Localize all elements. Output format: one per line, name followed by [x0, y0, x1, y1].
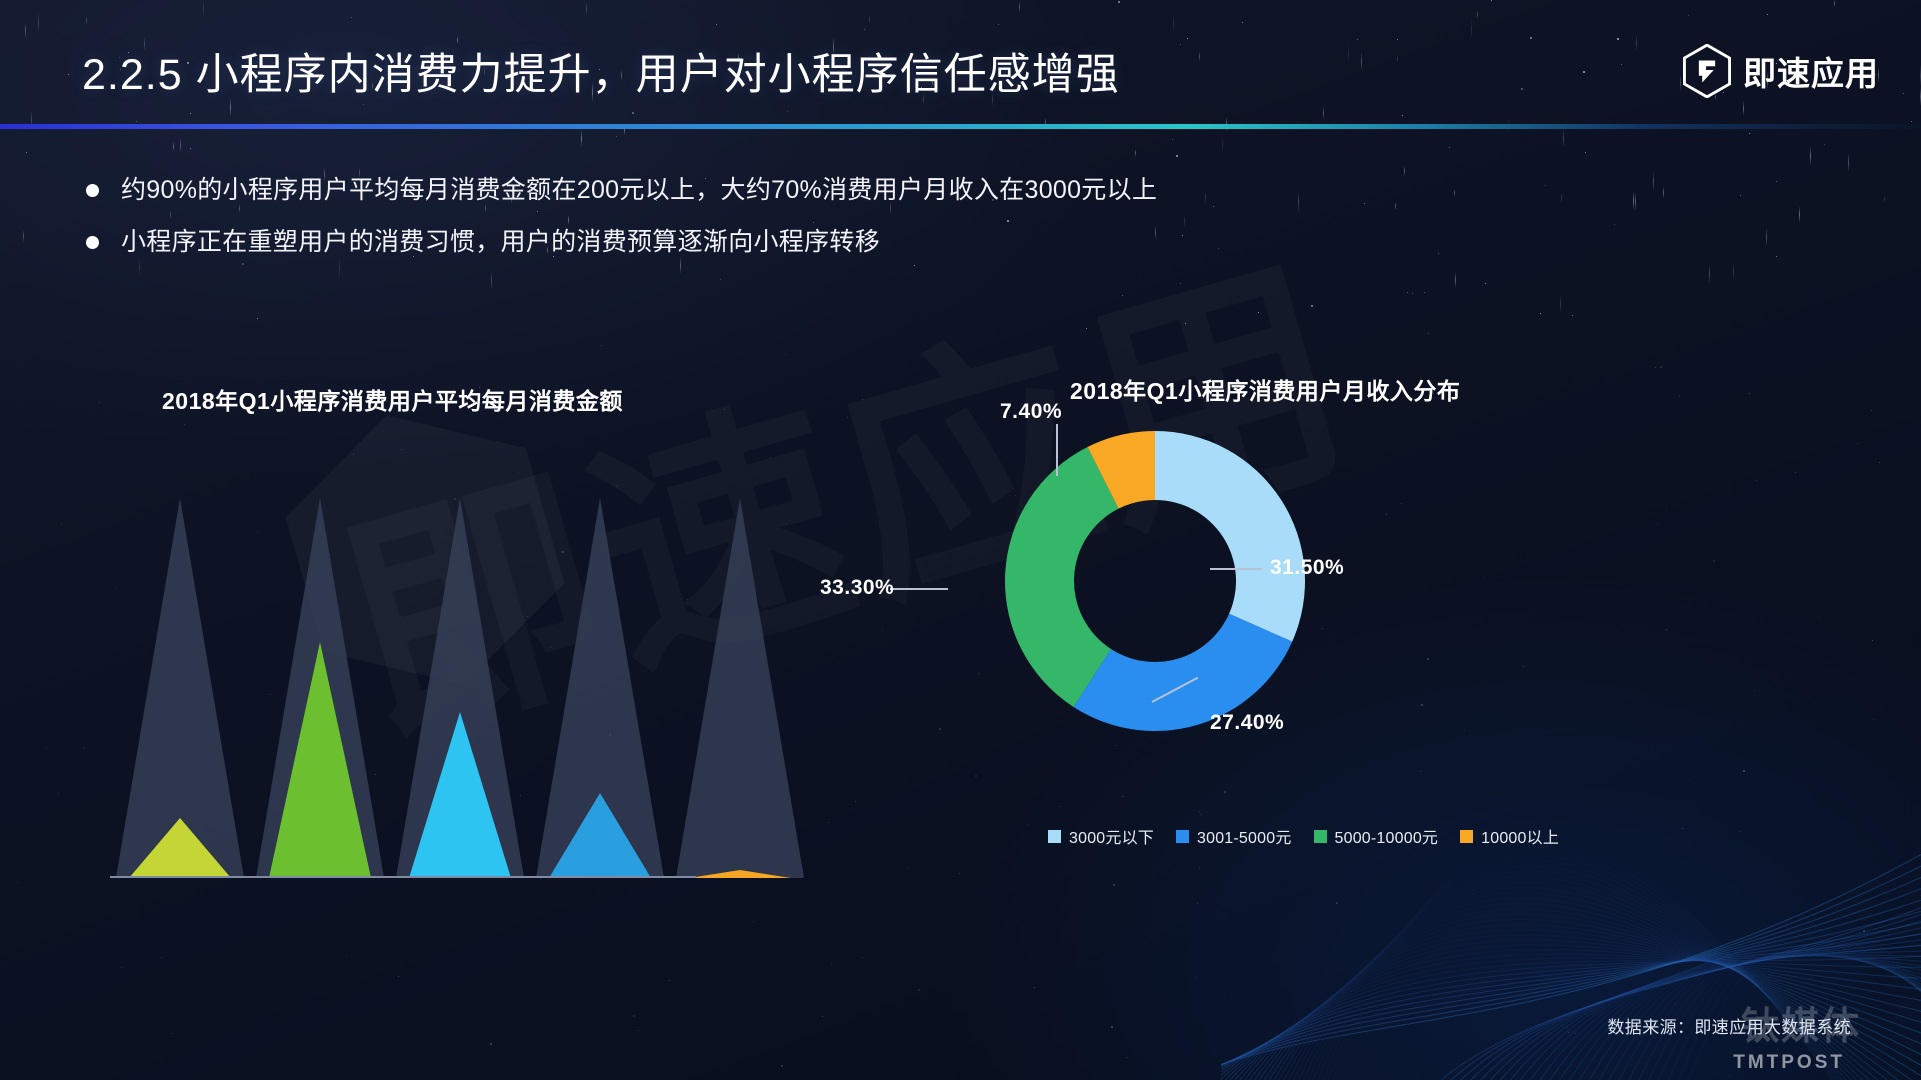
list-item: 约90%的小程序用户平均每月消费金额在200元以上，大约70%消费用户月收入在3… — [86, 172, 1586, 208]
bullet-dot-icon — [86, 236, 99, 249]
bar-chart-title: 2018年Q1小程序消费用户平均每月消费金额 — [110, 382, 830, 416]
donut-chart-legend: 3000元以下3001-5000元5000-10000元10000以上 — [1048, 824, 1559, 848]
bar-value-triangle — [269, 642, 371, 878]
legend-item[interactable]: 3000元以下 — [1048, 824, 1154, 848]
header-divider — [0, 124, 1921, 129]
bar-chart-plot — [110, 458, 810, 878]
hexagon-e-logo-icon — [1683, 44, 1731, 98]
legend-swatch-icon — [1176, 830, 1189, 843]
bar-group — [530, 458, 670, 878]
slide-root: 即速应用 2.2.5 小程序内消费力提升，用户对小程序信任感增强 即速应用 约9… — [0, 0, 1921, 1080]
legend-label: 10000以上 — [1481, 824, 1559, 848]
list-item: 小程序正在重塑用户的消费习惯，用户的消费预算逐渐向小程序转移 — [86, 224, 1586, 260]
donut-value-label: 31.50% — [1270, 556, 1344, 580]
bar-chart-panel: 2018年Q1小程序消费用户平均每月消费金额 10.9%200元以下43.1%2… — [110, 382, 830, 878]
brand-name-label: 即速应用 — [1743, 47, 1879, 95]
bar-value-triangle — [689, 870, 791, 878]
brand-logo: 即速应用 — [1683, 44, 1879, 98]
donut-chart-plot: 31.50%27.40%33.30%7.40% — [880, 416, 1640, 816]
legend-swatch-icon — [1460, 830, 1473, 843]
legend-item[interactable]: 10000以上 — [1460, 824, 1559, 848]
legend-item[interactable]: 5000-10000元 — [1314, 824, 1439, 848]
bullet-text: 约90%的小程序用户平均每月消费金额在200元以上，大约70%消费用户月收入在3… — [121, 172, 1157, 208]
legend-item[interactable]: 3001-5000元 — [1176, 824, 1292, 848]
tmt-logo-text: TMTPOST — [1733, 1052, 1845, 1074]
bar-value-triangle — [549, 793, 651, 878]
legend-label: 3000元以下 — [1069, 824, 1154, 848]
legend-swatch-icon — [1048, 830, 1061, 843]
donut-leader-line — [890, 588, 948, 590]
bar-value-triangle — [409, 712, 511, 878]
donut-leader-line — [1210, 568, 1262, 570]
bar-value-triangle — [129, 818, 231, 878]
source-note: 数据来源：即速应用大数据系统 — [1607, 1013, 1851, 1038]
donut-slice[interactable] — [1155, 431, 1305, 642]
bullet-dot-icon — [86, 184, 99, 197]
bar-group — [670, 458, 810, 878]
donut-value-label: 33.30% — [820, 576, 894, 600]
legend-label: 5000-10000元 — [1335, 824, 1439, 848]
bullet-list: 约90%的小程序用户平均每月消费金额在200元以上，大约70%消费用户月收入在3… — [86, 172, 1586, 277]
donut-svg — [990, 416, 1320, 746]
bar-track-triangle — [676, 498, 804, 878]
bar-group — [250, 458, 390, 878]
bar-group — [390, 458, 530, 878]
legend-swatch-icon — [1314, 830, 1327, 843]
bar-group — [110, 458, 250, 878]
donut-chart-panel: 2018年Q1小程序消费用户月收入分布 31.50%27.40%33.30%7.… — [880, 372, 1680, 816]
donut-leader-line — [1056, 424, 1058, 476]
bullet-text: 小程序正在重塑用户的消费习惯，用户的消费预算逐渐向小程序转移 — [121, 224, 880, 260]
donut-value-label: 7.40% — [1000, 400, 1062, 424]
legend-label: 3001-5000元 — [1197, 824, 1292, 848]
page-title: 2.2.5 小程序内消费力提升，用户对小程序信任感增强 — [82, 40, 1120, 102]
x-axis-line — [110, 876, 696, 878]
donut-value-label: 27.40% — [1210, 711, 1284, 735]
